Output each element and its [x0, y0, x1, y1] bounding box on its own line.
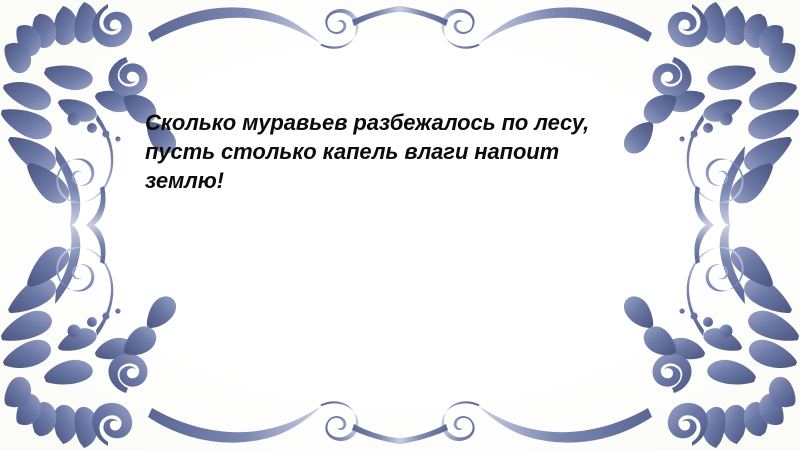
greeting-card: Сколько муравьев разбежалось по лесу, пу… [0, 0, 800, 450]
quote-text-block: Сколько муравьев разбежалось по лесу, пу… [145, 108, 655, 195]
quote-line-1: Сколько муравьев разбежалось по лесу, [145, 108, 655, 137]
corner-ornament-bottom-left [0, 225, 400, 450]
quote-line-2: пусть столько капель влаги напоит [145, 137, 655, 166]
ornament-vine-left [55, 114, 113, 225]
quote-line-3: землю! [145, 166, 655, 195]
ornament-vine-top [148, 6, 400, 49]
corner-ornament-bottom-right [400, 225, 800, 450]
paper-background [0, 0, 800, 450]
